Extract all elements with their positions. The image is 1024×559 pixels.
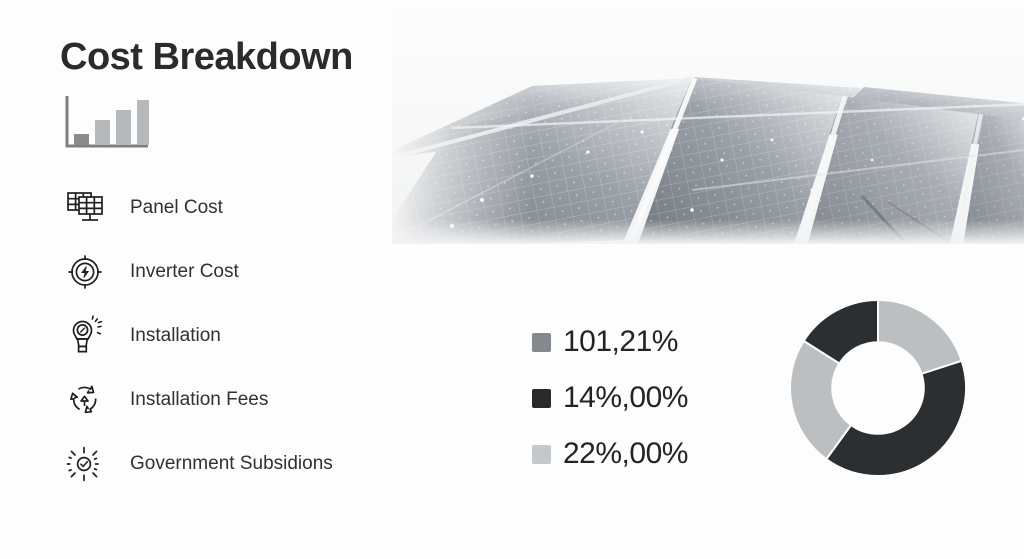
- chart-legend: 101,21% 14%,00% 22%,00%: [532, 314, 688, 482]
- recycle-arrows-icon: [60, 377, 110, 423]
- list-item-label: Installation: [130, 325, 221, 347]
- list-item-label: Government Subsidions: [130, 453, 333, 475]
- list-item[interactable]: Installation: [60, 304, 400, 368]
- sun-check-icon: [60, 441, 110, 487]
- legend-swatch: [532, 445, 551, 464]
- bar-chart-icon: [60, 94, 152, 159]
- legend-swatch: [532, 333, 551, 352]
- legend-item[interactable]: 14%,00%: [532, 370, 688, 426]
- solar-panel-photo-svg: [392, 0, 1024, 244]
- list-item[interactable]: Inverter Cost: [60, 240, 400, 304]
- lightbulb-icon: [60, 313, 110, 359]
- list-item-label: Installation Fees: [130, 389, 268, 411]
- legend-value: 22%,00%: [563, 437, 688, 471]
- donut-segment[interactable]: [826, 361, 966, 476]
- list-item[interactable]: Government Subsidions: [60, 432, 400, 496]
- left-panel: Cost Breakdown Panel Cost: [0, 0, 400, 559]
- legend-item[interactable]: 22%,00%: [532, 426, 688, 482]
- donut-chart[interactable]: [788, 298, 968, 478]
- inverter-bolt-icon: [60, 249, 110, 295]
- legend-value: 101,21%: [563, 325, 678, 359]
- list-item[interactable]: Panel Cost: [60, 176, 400, 240]
- legend-swatch: [532, 389, 551, 408]
- page-title: Cost Breakdown: [60, 36, 353, 79]
- list-item-label: Panel Cost: [130, 197, 223, 219]
- donut-chart-svg: [788, 298, 968, 478]
- list-item-label: Inverter Cost: [130, 261, 239, 283]
- category-list: Panel Cost Inverter Cost: [60, 176, 400, 496]
- solar-panel-icon: [60, 185, 110, 231]
- solar-panel-array-photo: [392, 0, 1024, 244]
- donut-segment[interactable]: [878, 300, 962, 374]
- list-item[interactable]: Installation Fees: [60, 368, 400, 432]
- legend-item[interactable]: 101,21%: [532, 314, 688, 370]
- legend-value: 14%,00%: [563, 381, 688, 415]
